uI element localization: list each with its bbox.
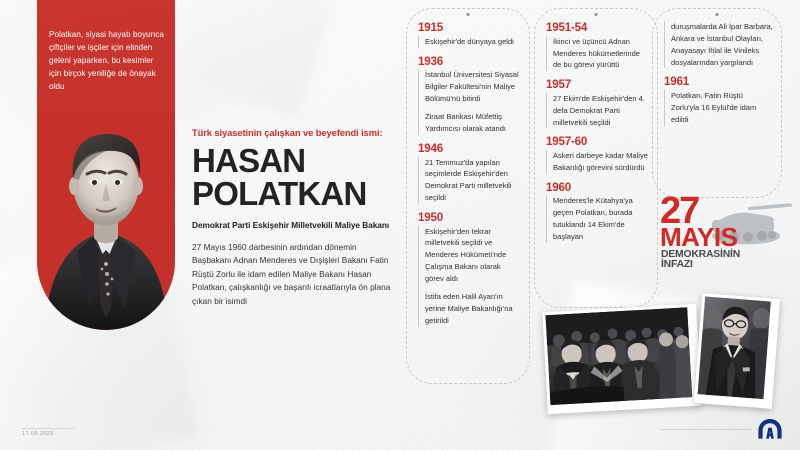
- infographic-canvas: Polatkan, siyasi hayatı boyunca çiftçile…: [0, 0, 800, 450]
- timeline-column-3: duruşmalarda Ali İpar Barbara, Ankara ve…: [652, 8, 782, 198]
- timeline-paragraph: Askeri darbeye kadar Maliye Bakanlığı gö…: [553, 150, 649, 174]
- logo-line-2: İNFAZI: [661, 257, 693, 268]
- timeline-entry: 1936 İstanbul Üniversitesi Siyasal Bilgi…: [418, 55, 521, 135]
- timeline-year: 1936: [418, 55, 521, 69]
- timeline-continuation-text: duruşmalarda Ali İpar Barbara, Ankara ve…: [664, 21, 773, 68]
- timeline-year: 1961: [664, 75, 773, 89]
- headline-kicker: Türk siyasetinin çalışkan ve beyefendi i…: [192, 126, 397, 139]
- logo-month: MAYIS: [660, 222, 738, 252]
- timeline-entry: 1951-54 İkinci ve üçüncü Adnan Menderes …: [546, 21, 649, 71]
- timeline-entry: 1946 21 Temmuz'da yapılan seçimlerde Esk…: [418, 142, 521, 204]
- timeline-entry: 1960 Menderes'le Kütahya'ya geçen Polatk…: [546, 181, 649, 243]
- timeline-body: Eskişehir'den tekrar milletvekili seçild…: [418, 226, 521, 327]
- headline-block: Türk siyasetinin çalışkan ve beyefendi i…: [192, 126, 397, 308]
- headline-subtitle: Demokrat Parti Eskişehir Milletvekili Ma…: [192, 219, 397, 231]
- page-title: HASAN POLATKAN: [192, 145, 397, 210]
- timeline-paragraph: İstanbul Üniversitesi Siyasal Bilgiler F…: [425, 69, 521, 105]
- photo-polatkan-standing: [694, 293, 780, 409]
- timeline-column-3-entries: duruşmalarda Ali İpar Barbara, Ankara ve…: [664, 21, 773, 133]
- timeline-body: İkinci ve üçüncü Adnan Menderes hükümetl…: [546, 36, 649, 72]
- title-line-2: POLATKAN: [192, 178, 397, 210]
- timeline-body: Polatkan, Fatin Rüştü Zorlu'yla 16 Eylül…: [664, 90, 773, 126]
- timeline-paragraph: 27 Ekim'de Eskişehir'den 4. defa Demokra…: [553, 93, 649, 129]
- timeline-body: Menderes'le Kütahya'ya geçen Polatkan, b…: [546, 195, 649, 242]
- timeline-body: İstanbul Üniversitesi Siyasal Bilgiler F…: [418, 69, 521, 135]
- timeline-body: Askeri darbeye kadar Maliye Bakanlığı gö…: [546, 150, 649, 174]
- timeline-entry: 1957-60 Askeri darbeye kadar Maliye Baka…: [546, 135, 649, 173]
- timeline-body: 21 Temmuz'da yapılan seçimlerde Eskişehi…: [418, 157, 521, 204]
- timeline-column-1: 1915 Eskişehir'de dünyaya geldi 1936 İst…: [406, 8, 530, 384]
- timeline-entry: 1950 Eskişehir'den tekrar milletvekili s…: [418, 211, 521, 327]
- timeline-column-2: 1951-54 İkinci ve üçüncü Adnan Menderes …: [534, 8, 658, 308]
- timeline-year: 1960: [546, 181, 649, 195]
- campaign-logo: 27 MAYIS DEMOKRASİNİN İNFAZI: [660, 190, 798, 268]
- title-line-1: HASAN: [192, 142, 305, 179]
- headline-lead-paragraph: 27 Mayıs 1960 darbesinin ardından dönemi…: [192, 241, 397, 308]
- timeline-year: 1951-54: [546, 21, 649, 35]
- column-marker-dot: [716, 13, 719, 16]
- photo-courtroom: [542, 304, 701, 414]
- timeline-body: Eskişehir'de dünyaya geldi: [418, 36, 521, 48]
- timeline-year: 1957: [546, 78, 649, 92]
- timeline-year: 1957-60: [546, 135, 649, 149]
- timeline-entry: 1915 Eskişehir'de dünyaya geldi: [418, 21, 521, 48]
- intro-quote: Polatkan, siyasi hayatı boyunca çiftçile…: [49, 28, 164, 94]
- timeline-paragraph: 21 Temmuz'da yapılan seçimlerde Eskişehi…: [425, 157, 521, 204]
- timeline-paragraph: Eskişehir'de dünyaya geldi: [425, 36, 521, 48]
- portrait-photo: [37, 112, 175, 330]
- footer-rule: [660, 429, 752, 430]
- timeline-body: 27 Ekim'de Eskişehir'den 4. defa Demokra…: [546, 93, 649, 129]
- timeline-entry: 1961 Polatkan, Fatin Rüştü Zorlu'yla 16 …: [664, 75, 773, 125]
- timeline-paragraph: İkinci ve üçüncü Adnan Menderes hükümetl…: [553, 36, 649, 72]
- timeline-column-1-entries: 1915 Eskişehir'de dünyaya geldi 1936 İst…: [418, 21, 521, 334]
- column-marker-dot: [595, 13, 598, 16]
- aa-logo-icon: [757, 418, 783, 440]
- timeline-paragraph: Polatkan, Fatin Rüştü Zorlu'yla 16 Eylül…: [671, 90, 773, 126]
- timeline-paragraph: İstifa eden Halil Ayan'ın yerine Maliye …: [425, 291, 521, 327]
- timeline-column-2-entries: 1951-54 İkinci ve üçüncü Adnan Menderes …: [546, 21, 649, 250]
- timeline-year: 1946: [418, 142, 521, 156]
- timeline-year: 1950: [418, 211, 521, 225]
- timeline-continuation: duruşmalarda Ali İpar Barbara, Ankara ve…: [664, 21, 773, 68]
- timeline-entry: 1957 27 Ekim'de Eskişehir'den 4. defa De…: [546, 78, 649, 128]
- timeline-paragraph: Ziraat Bankası Müfettiş Yardımcısı olara…: [425, 111, 521, 135]
- timeline-paragraph: Eskişehir'den tekrar milletvekili seçild…: [425, 226, 521, 285]
- column-marker-dot: [467, 13, 470, 16]
- date-stamp: 17.09.2025: [22, 428, 74, 437]
- timeline-year: 1915: [418, 21, 521, 35]
- timeline-paragraph: Menderes'le Kütahya'ya geçen Polatkan, b…: [553, 195, 649, 242]
